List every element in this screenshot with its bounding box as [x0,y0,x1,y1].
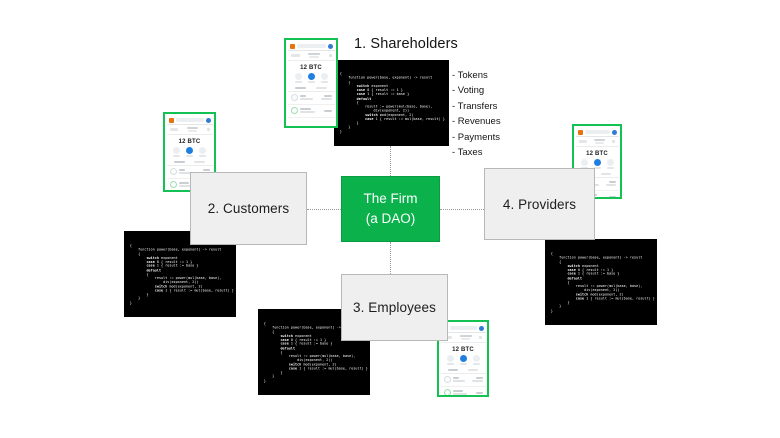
connector-firm-to-employees [390,242,391,274]
phone-screen: 12 BTC [288,42,335,125]
list-item-text [453,390,471,395]
action-label [460,363,467,365]
wallet-balance: 12 BTC [288,61,335,73]
avatar[interactable] [328,44,333,49]
token-icon [291,94,298,101]
tab-activity[interactable] [194,161,204,163]
phone-spacer [288,118,335,125]
avatar[interactable] [206,118,211,123]
send-icon [460,355,467,362]
receive-icon [173,147,180,154]
tab-assets[interactable] [174,161,184,163]
account-name-block [591,139,608,145]
action-label [473,363,480,365]
node-title-employees: 3. Employees [353,300,436,315]
token-icon [444,376,451,383]
tab-activity[interactable] [316,87,327,89]
tab-activity[interactable] [468,369,478,371]
list-item-text [300,108,319,113]
center-title-line1: The Firm [364,189,418,209]
code-line: } [551,308,650,312]
account-name-block [457,335,475,341]
node-title-customers: 2. Customers [208,201,289,216]
list-item[interactable] [288,105,335,118]
action-swap[interactable] [473,355,480,365]
node-box-providers: 4. Providers [484,168,595,240]
more-options-icon[interactable] [612,140,615,143]
node-box-employees: 3. Employees [341,274,448,341]
node-title-providers: 4. Providers [503,197,576,212]
tab-activity[interactable] [601,173,611,175]
receive-icon [581,159,588,166]
swap-icon [321,73,328,80]
action-send[interactable] [308,73,315,83]
bullet-item: - Voting [452,83,501,98]
avatar[interactable] [479,326,484,331]
receive-icon [295,73,302,80]
swap-icon [473,355,480,362]
action-receive[interactable] [295,73,302,83]
account-bar[interactable] [288,51,335,62]
swap-icon [607,159,614,166]
action-label [308,81,315,83]
app-logo-icon [169,118,174,123]
list-item-value [321,95,332,100]
network-selector[interactable] [585,130,610,134]
bullet-item: - Revenues [452,114,501,129]
action-label [447,363,454,365]
wallet-actions [288,73,335,86]
token-icon [170,168,177,175]
token-icon [291,107,298,114]
account-bar[interactable] [576,137,619,148]
network-selector[interactable] [297,44,326,48]
tab-assets[interactable] [295,87,306,89]
list-item[interactable] [441,387,486,398]
app-logo-icon [290,44,295,49]
send-icon [594,159,601,166]
wallet-actions [441,355,486,368]
action-label [199,155,206,157]
node-title-shareholders: 1. Shareholders [354,36,458,52]
bullet-item: - Transfers [452,99,501,114]
list-item-value [321,110,332,112]
phone-topbar [167,116,213,125]
wallet-balance: 12 BTC [441,343,486,355]
code-line: } [264,378,363,382]
list-item-value [472,377,482,382]
code-line: } [340,130,443,134]
bullet-item: - Taxes [452,145,501,160]
account-name-block [305,53,324,59]
list-item[interactable] [288,92,335,105]
list-item-value [472,392,482,394]
action-receive[interactable] [173,147,180,157]
more-options-icon[interactable] [207,128,210,131]
wallet-balance: 12 BTC [576,147,619,159]
action-label [321,81,328,83]
app-logo-icon [578,130,583,135]
wallet-actions [167,147,213,160]
code-card-providers: { function power(base, exponent) -> resu… [545,239,657,325]
send-icon [308,73,315,80]
action-send[interactable] [186,147,193,157]
phone-mockup-shareholders: 12 BTC [284,38,338,128]
node-box-customers: 2. Customers [190,172,307,245]
code-line: function power(base, exponent) -> result [551,255,650,259]
bullet-item: - Payments [452,130,501,145]
connector-shareholders-to-firm [390,146,391,176]
code-line: function power(base, exponent) -> result [130,247,229,251]
connector-customers-to-firm [307,209,341,210]
token-icon [170,181,177,188]
action-send[interactable] [460,355,467,365]
center-node-the-firm: The Firm (a DAO) [341,176,440,242]
action-swap[interactable] [607,159,614,169]
code-line: function power(base, exponent) -> result [340,76,443,80]
account-bar[interactable] [167,125,213,136]
list-item-text [453,377,471,382]
action-label [607,167,614,169]
account-back-label [579,140,587,143]
code-inner: { function power(base, exponent) -> resu… [336,66,447,139]
action-label [295,81,302,83]
diagram-canvas: { function power(base, exponent) -> resu… [0,0,780,438]
code-card-shareholders: { function power(base, exponent) -> resu… [334,60,449,146]
more-options-icon[interactable] [329,54,332,57]
action-swap[interactable] [199,147,206,157]
avatar[interactable] [612,130,617,135]
shareholders-bullet-list: - Tokens - Voting - Transfers - Revenues… [452,68,501,160]
account-name-block [183,127,201,133]
code-inner: { function power(base, exponent) -> resu… [547,246,654,319]
wallet-balance: 12 BTC [167,135,213,147]
list-item[interactable] [441,374,486,387]
list-item-text [300,95,319,100]
account-back-label [291,54,300,57]
connector-firm-to-providers [440,209,484,210]
bullet-item: - Tokens [452,68,501,83]
more-options-icon[interactable] [479,336,482,339]
token-icon [444,389,451,396]
account-back-label [170,128,179,131]
action-label [186,155,193,157]
action-receive[interactable] [447,355,454,365]
code-inner: { function power(base, exponent) -> resu… [126,238,233,311]
action-label [173,155,180,157]
receive-icon [447,355,454,362]
list-item-value [606,181,616,186]
phone-topbar [288,42,335,51]
code-line: } [130,300,229,304]
network-selector[interactable] [176,118,204,122]
tab-assets[interactable] [448,369,458,371]
phone-topbar [576,128,619,137]
swap-icon [199,147,206,154]
send-icon [186,147,193,154]
center-title-line2: (a DAO) [366,209,416,229]
list-item-value [606,196,616,198]
action-swap[interactable] [321,73,328,83]
network-selector[interactable] [450,326,477,330]
